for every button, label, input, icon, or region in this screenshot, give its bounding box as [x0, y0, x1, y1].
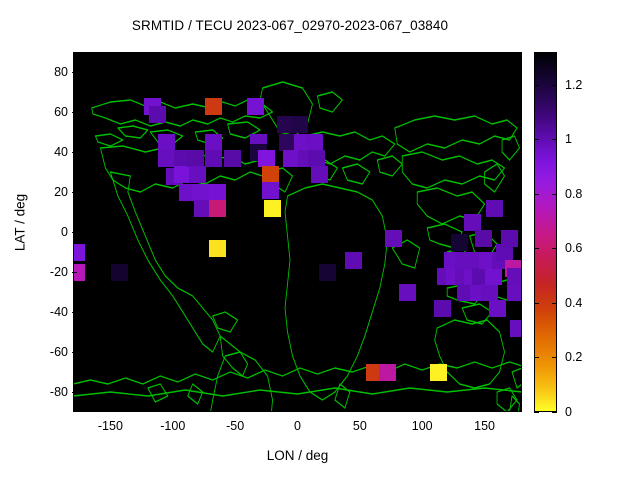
heatmap-cell: [73, 244, 85, 261]
y-tick-mark: [72, 232, 77, 233]
heatmap-cell: [209, 200, 226, 217]
x-tick-label: -50: [200, 419, 270, 433]
colorbar-tick-label: 1.2: [565, 78, 582, 92]
colorbar-tick-mark: [552, 412, 557, 413]
colorbar-tick-label: 0.4: [565, 296, 582, 310]
y-tick-label: -80: [8, 385, 68, 399]
colorbar-tick-mark: [552, 357, 557, 358]
colorbar-tick-mark: [534, 248, 539, 249]
y-tick-mark: [72, 312, 77, 313]
x-tick-label: -150: [75, 419, 145, 433]
heatmap-cell: [224, 150, 241, 167]
heatmap-cell: [262, 166, 279, 183]
heatmap-cell: [187, 150, 204, 167]
heatmap-cell: [507, 284, 522, 301]
heatmap-cell: [501, 230, 518, 247]
colorbar-tick-label: 0.8: [565, 187, 582, 201]
colorbar-tick-mark: [552, 85, 557, 86]
heatmap-cell: [209, 240, 226, 257]
heatmap-cell: [264, 200, 281, 217]
x-tick-label: 150: [450, 419, 520, 433]
x-axis-title: LON / deg: [73, 448, 522, 463]
colorbar-tick-mark: [534, 303, 539, 304]
heatmap-cell: [247, 98, 264, 115]
y-tick-mark: [72, 152, 77, 153]
heatmap-cell: [205, 98, 222, 115]
y-tick-label: 80: [8, 65, 68, 79]
heatmap-cell: [209, 184, 226, 201]
heatmap-cell: [485, 268, 502, 285]
heatmap-cell: [399, 284, 416, 301]
colorbar-tick-mark: [534, 85, 539, 86]
heatmap-cell: [262, 182, 279, 199]
y-tick-label: 40: [8, 145, 68, 159]
colorbar-tick-mark: [534, 357, 539, 358]
heatmap-cell: [306, 134, 323, 151]
heatmap-cell: [451, 234, 468, 251]
colorbar-tick-mark: [552, 248, 557, 249]
heatmap-cell: [379, 364, 396, 381]
heatmap-cell: [111, 264, 128, 281]
y-tick-mark: [72, 192, 77, 193]
heatmap-cell: [430, 364, 447, 381]
y-tick-label: -60: [8, 345, 68, 359]
colorbar-tick-mark: [552, 303, 557, 304]
x-tick-label: 0: [263, 419, 333, 433]
x-axis-ticks: -150-100-50050100150: [0, 419, 640, 439]
colorbar-tick-mark: [552, 139, 557, 140]
heatmap-cell: [149, 106, 166, 123]
y-tick-mark: [72, 112, 77, 113]
y-tick-label: -40: [8, 305, 68, 319]
y-tick-label: 60: [8, 105, 68, 119]
colorbar-ticks: 1.210.80.60.40.20: [534, 52, 634, 412]
y-tick-mark: [72, 72, 77, 73]
heatmap-cell: [258, 150, 275, 167]
y-axis-title: LAT / deg: [13, 173, 28, 273]
heatmap-cell: [489, 300, 506, 317]
heatmap-cell: [158, 134, 175, 151]
heatmap-cell: [319, 264, 336, 281]
heatmap-cell: [311, 166, 328, 183]
colorbar-tick-mark: [552, 194, 557, 195]
heatmap-cell: [481, 284, 498, 301]
figure: SRMTID / TECU 2023-067_02970-2023-067_03…: [0, 0, 640, 480]
heatmap-cell: [510, 320, 522, 337]
heatmap-cell: [475, 230, 492, 247]
x-tick-label: -100: [138, 419, 208, 433]
colorbar-tick-label: 1: [565, 132, 572, 146]
heatmap-cell: [205, 134, 222, 151]
colorbar-tick-mark: [534, 194, 539, 195]
heatmap-cell: [385, 230, 402, 247]
heatmap-cell: [192, 184, 209, 201]
coastline-overlay: [73, 52, 522, 412]
colorbar-tick-mark: [534, 412, 539, 413]
colorbar-tick-label: 0: [565, 405, 572, 419]
colorbar-tick-mark: [534, 139, 539, 140]
heatmap-cell: [464, 214, 481, 231]
heatmap-cell: [205, 150, 222, 167]
heatmap-cell: [345, 252, 362, 269]
colorbar-tick-label: 0.6: [565, 241, 582, 255]
chart-title: SRMTID / TECU 2023-067_02970-2023-067_03…: [0, 18, 580, 33]
heatmap-cell: [434, 300, 451, 317]
x-tick-label: 50: [325, 419, 395, 433]
heatmap-cell: [507, 268, 522, 285]
y-tick-mark: [72, 272, 77, 273]
y-tick-mark: [72, 392, 77, 393]
heatmap-cell: [189, 166, 206, 183]
heatmap-cell: [486, 200, 503, 217]
heatmap-cell: [308, 150, 325, 167]
map-plot-area: [73, 52, 522, 412]
heatmap-cell: [158, 150, 175, 167]
heatmap-cell: [292, 116, 309, 133]
y-tick-mark: [72, 352, 77, 353]
colorbar-tick-label: 0.2: [565, 350, 582, 364]
x-tick-label: 100: [387, 419, 457, 433]
